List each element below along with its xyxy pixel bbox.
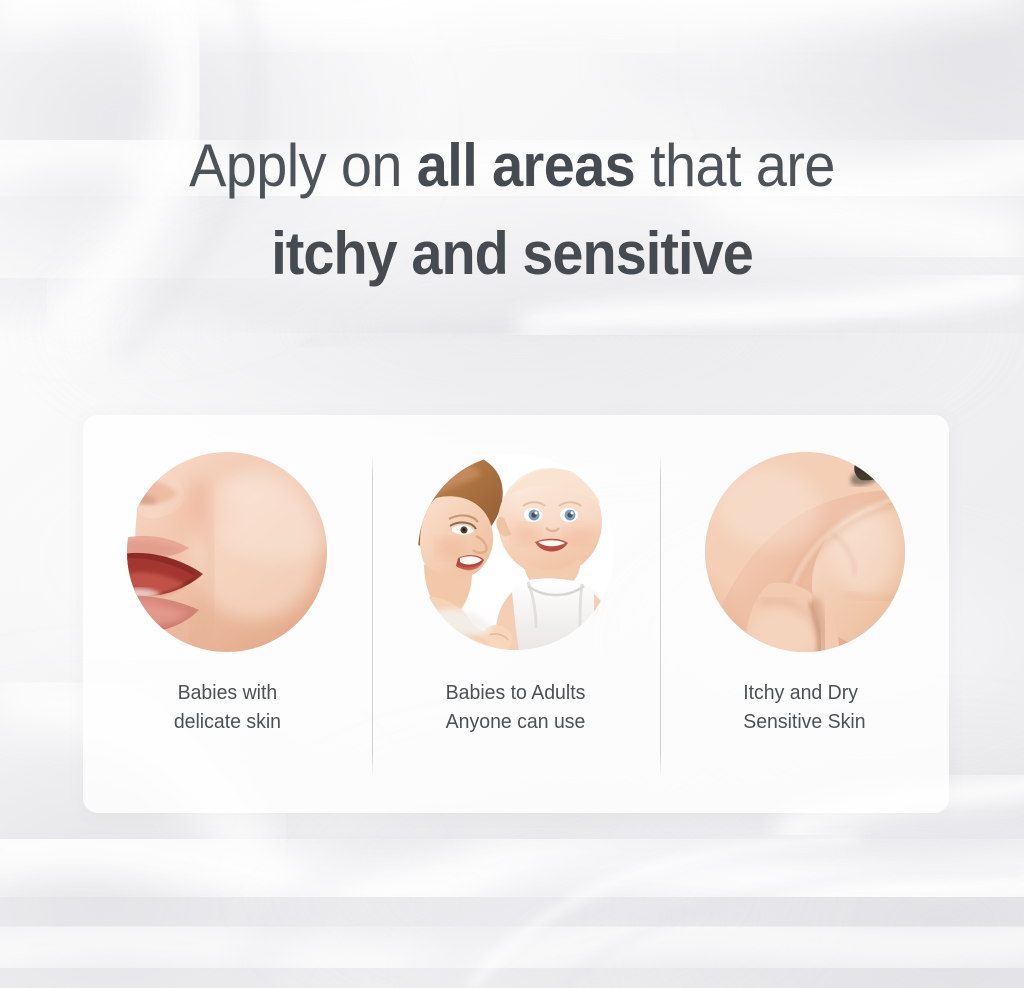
headline-text-part2: that are	[635, 132, 835, 199]
feature-caption-1: Babies with delicate skin	[174, 678, 281, 736]
feature-column-babies-delicate-skin: Babies with delicate skin	[83, 415, 372, 813]
caption-1-line-1: Babies with	[174, 678, 281, 707]
headline-text-part1: Apply on	[189, 132, 417, 199]
caption-2-line-2: Anyone can use	[446, 707, 586, 736]
headline-emphasis: all areas	[417, 132, 635, 199]
caption-2-line-1: Babies to Adults	[446, 678, 586, 707]
headline-line-1: Apply on all areas that are	[36, 122, 988, 210]
baby-skin-folds-closeup-photo	[705, 452, 905, 652]
feature-column-itchy-dry-skin: Itchy and Dry Sensitive Skin	[660, 415, 949, 813]
mother-holding-baby-photo	[416, 452, 616, 652]
caption-3-line-2: Sensitive Skin	[744, 707, 866, 736]
headline-line-2: itchy and sensitive	[36, 210, 988, 298]
feature-card: Babies with delicate skin	[83, 415, 949, 813]
baby-face-closeup-photo	[127, 452, 327, 652]
feature-caption-2: Babies to Adults Anyone can use	[446, 678, 586, 736]
headline: Apply on all areas that are itchy and se…	[0, 122, 1024, 298]
feature-columns: Babies with delicate skin	[83, 415, 949, 813]
feature-caption-3: Itchy and Dry Sensitive Skin	[744, 678, 866, 736]
feature-column-babies-to-adults: Babies to Adults Anyone can use	[372, 415, 661, 813]
caption-3-line-1: Itchy and Dry	[744, 678, 866, 707]
caption-1-line-2: delicate skin	[174, 707, 281, 736]
